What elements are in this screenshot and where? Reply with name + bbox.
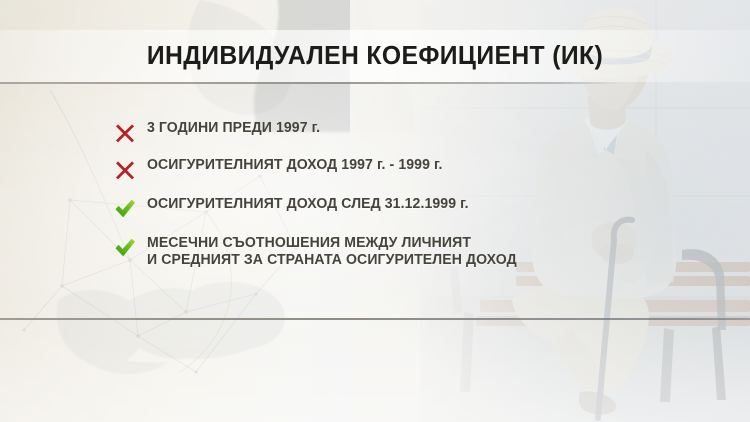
red-x-icon: [113, 158, 137, 182]
slide-root: ИНДИВИДУАЛЕН КОЕФИЦИЕНТ (ИК) 3 ГОДИНИ ПР…: [0, 0, 750, 422]
list-item-label: 3 ГОДИНИ ПРЕДИ 1997 г.: [147, 120, 320, 137]
green-check-icon: [113, 197, 137, 221]
list-item-label: МЕСЕЧНИ СЪОТНОШЕНИЯ МЕЖДУ ЛИЧНИЯТ И СРЕД…: [147, 235, 517, 269]
list-item: ОСИГУРИТЕЛНИЯТ ДОХОД СЛЕД 31.12.1999 г.: [113, 196, 633, 221]
list-item: ОСИГУРИТЕЛНИЯТ ДОХОД 1997 г. - 1999 г.: [113, 157, 633, 182]
red-x-icon: [113, 121, 137, 145]
list-item-label: ОСИГУРИТЕЛНИЯТ ДОХОД СЛЕД 31.12.1999 г.: [147, 196, 469, 213]
list-item-label: ОСИГУРИТЕЛНИЯТ ДОХОД 1997 г. - 1999 г.: [147, 157, 443, 174]
list-item: МЕСЕЧНИ СЪОТНОШЕНИЯ МЕЖДУ ЛИЧНИЯТ И СРЕД…: [113, 235, 633, 269]
criteria-list: 3 ГОДИНИ ПРЕДИ 1997 г. ОСИГУРИТЕЛНИЯТ ДО…: [113, 120, 633, 269]
list-item: 3 ГОДИНИ ПРЕДИ 1997 г.: [113, 120, 633, 145]
page-title: ИНДИВИДУАЛЕН КОЕФИЦИЕНТ (ИК): [19, 40, 732, 71]
green-check-icon: [113, 236, 137, 260]
